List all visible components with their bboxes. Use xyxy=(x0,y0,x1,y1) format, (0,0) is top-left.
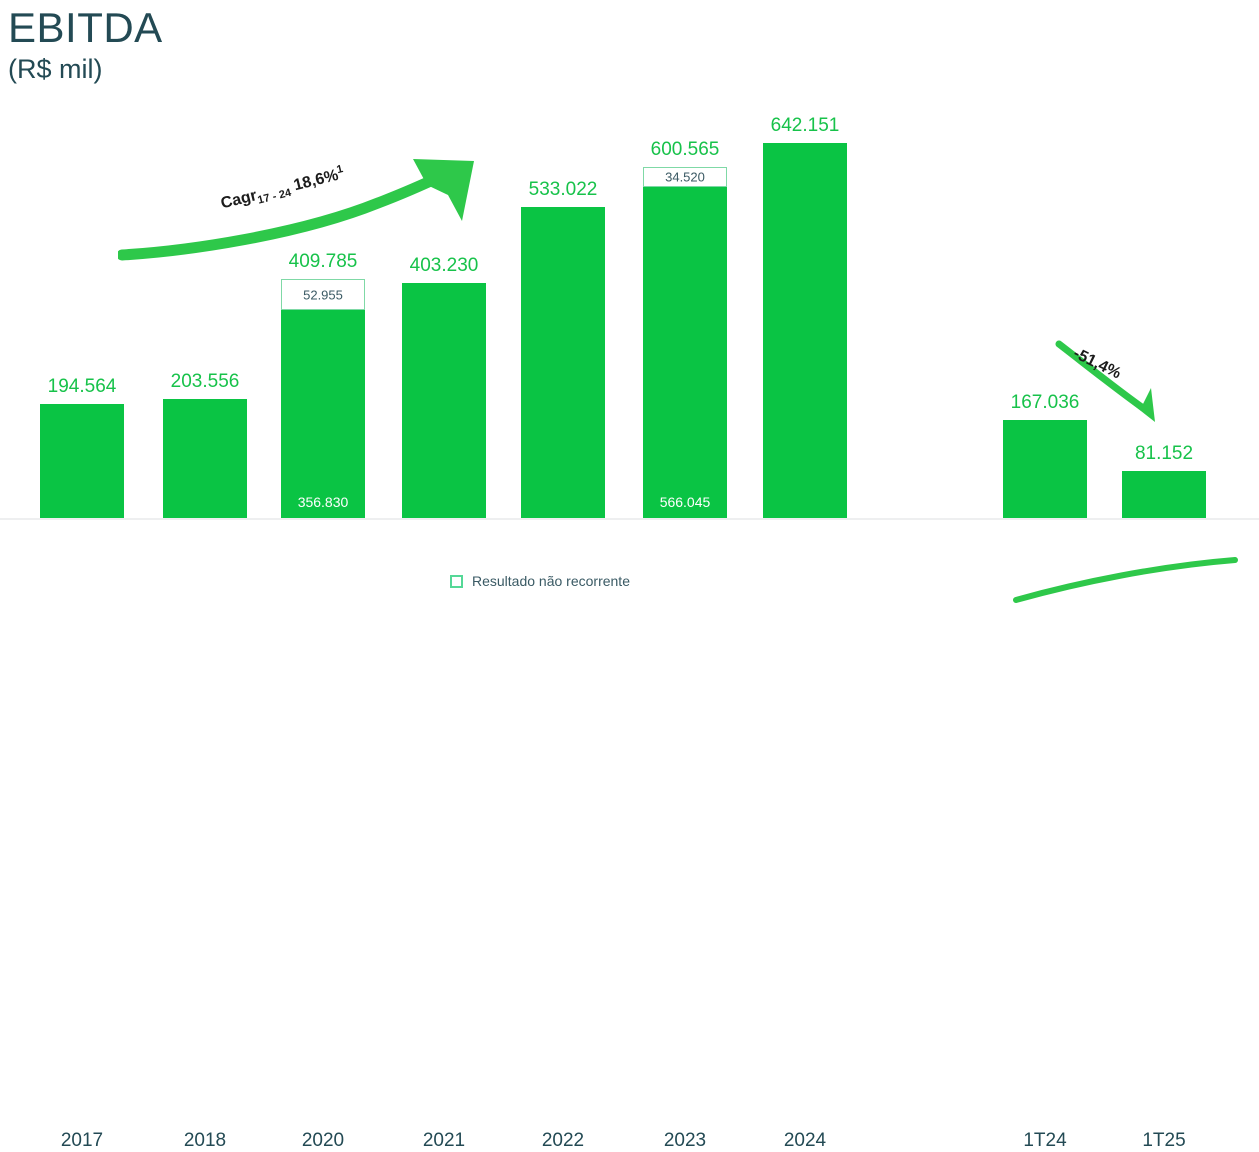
bar-segment-recorrente[interactable] xyxy=(1122,471,1206,518)
bar-stack: 409.78552.955356.830 xyxy=(281,279,365,518)
axis-baseline xyxy=(0,518,1259,520)
bar-segment-recorrente[interactable] xyxy=(163,399,247,518)
bar-stack: 533.022 xyxy=(521,207,605,518)
bar-segment-nao-recorrente[interactable]: 52.955 xyxy=(281,279,365,310)
bar-stack: 194.564 xyxy=(40,404,124,518)
chart-legend[interactable]: Resultado não recorrente xyxy=(450,573,630,589)
ebitda-chart: EBITDA (R$ mil) 194.5642017203.556201840… xyxy=(0,0,1259,600)
bar-stack: 403.230 xyxy=(402,283,486,518)
bar-segment-recorrente[interactable] xyxy=(763,143,847,518)
legend-label: Resultado não recorrente xyxy=(472,573,630,589)
bar-total-label: 403.230 xyxy=(378,255,510,277)
bar-segment-recorrente[interactable] xyxy=(1003,420,1087,518)
legend-swatch-icon xyxy=(450,575,463,588)
bar-total-label: 194.564 xyxy=(16,376,148,398)
x-axis-label-1t25: 1T25 xyxy=(1092,1130,1236,1152)
bar-total-label: 642.151 xyxy=(739,115,871,137)
variation-annotation-label: -51,4% xyxy=(1070,345,1123,383)
cagr-annotation-label: Cagr17 - 24 18,6%1 xyxy=(219,163,347,215)
bar-total-label: 533.022 xyxy=(497,179,629,201)
bar-stack: 600.56534.520566.045 xyxy=(643,167,727,518)
bar-total-label: 167.036 xyxy=(979,392,1111,414)
bar-segment-main-label: 356.830 xyxy=(281,494,365,510)
bar-segment-extra-label: 34.520 xyxy=(644,170,726,185)
bar-segment-extra-label: 52.955 xyxy=(282,287,364,302)
bar-total-label: 203.556 xyxy=(139,371,271,393)
bar-segment-main-label: 566.045 xyxy=(643,494,727,510)
bar-segment-nao-recorrente[interactable]: 34.520 xyxy=(643,167,727,187)
bar-segment-recorrente[interactable]: 566.045 xyxy=(643,187,727,518)
bar-total-label: 81.152 xyxy=(1098,443,1230,465)
bar-stack: 81.152 xyxy=(1122,471,1206,518)
bar-stack: 167.036 xyxy=(1003,420,1087,518)
bar-stack: 203.556 xyxy=(163,399,247,518)
x-axis-label-2024: 2024 xyxy=(733,1130,877,1152)
bar-stack: 642.151 xyxy=(763,143,847,518)
cagr-value: 18,6% xyxy=(288,167,340,196)
cagr-prefix: Cagr xyxy=(219,187,258,212)
decorative-curve-icon xyxy=(1010,556,1259,611)
bar-total-label: 409.785 xyxy=(257,251,389,273)
bar-segment-recorrente[interactable] xyxy=(402,283,486,518)
bar-segment-recorrente[interactable] xyxy=(40,404,124,518)
cagr-subscript: 17 - 24 xyxy=(256,187,292,207)
bar-total-label: 600.565 xyxy=(619,139,751,161)
bar-segment-recorrente[interactable]: 356.830 xyxy=(281,310,365,518)
plot-area: 194.5642017203.5562018409.78552.955356.8… xyxy=(0,0,1259,600)
bar-segment-recorrente[interactable] xyxy=(521,207,605,518)
